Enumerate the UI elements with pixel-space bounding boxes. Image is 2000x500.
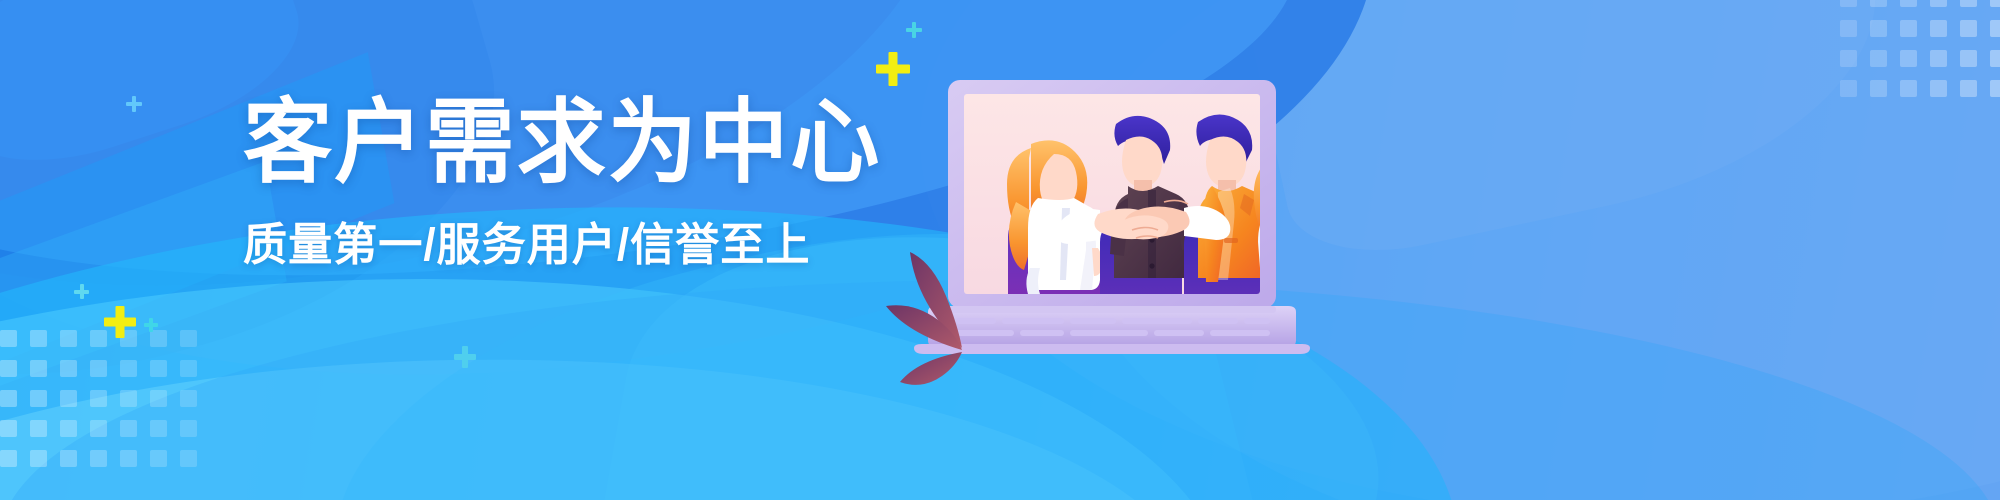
dot-grid-cell (60, 330, 77, 347)
dot-grid-cell (1990, 50, 2000, 67)
dot-grid-cell (1930, 50, 1947, 67)
dot-grid-cell (120, 390, 137, 407)
dot-grid-cell (0, 450, 17, 467)
dot-grid-cell (0, 360, 17, 377)
dot-grid-cell (30, 420, 47, 437)
dot-grid-cell (1990, 0, 2000, 7)
dot-grid-cell (0, 420, 17, 437)
dot-grid-cell (150, 390, 167, 407)
dot-grid-cell (1960, 20, 1977, 37)
dot-grid-cell (1900, 80, 1917, 97)
background-shard-right (1232, 0, 1907, 271)
laptop-teamwork-illustration (912, 62, 1312, 352)
dot-grid-cell (60, 360, 77, 377)
dot-grid-cell (150, 420, 167, 437)
dot-grid-cell (90, 360, 107, 377)
dot-grid-cell (60, 390, 77, 407)
dot-grid-cell (30, 450, 47, 467)
dot-grid-cell (30, 330, 47, 347)
dot-grid-cell (90, 450, 107, 467)
headline-block: 客户需求为中心 质量第一/服务用户/信誉至上 (243, 96, 903, 273)
dot-grid-cell (1840, 80, 1857, 97)
dot-grid-cell (1960, 0, 1977, 7)
dot-grid-cell (1870, 0, 1887, 7)
dot-grid-cell (1990, 20, 2000, 37)
dot-grid-cell (120, 330, 137, 347)
plus-cyan-bottom-left-icon (144, 318, 158, 332)
promo-banner: 客户需求为中心 质量第一/服务用户/信誉至上 (0, 0, 2000, 500)
plus-yellow-large-bottom-icon (104, 306, 136, 338)
plus-yellow-large-top-icon (876, 52, 910, 86)
dot-grid-cell (1840, 0, 1857, 7)
dot-grid-cell (1900, 0, 1917, 7)
dot-grid-cell (120, 360, 137, 377)
dot-grid-cell (90, 420, 107, 437)
dot-grid-cell (1900, 50, 1917, 67)
plus-cyan-upper-left-icon (126, 96, 142, 112)
dot-grid-cell (1870, 50, 1887, 67)
dot-grid-cell (180, 330, 197, 347)
dot-grid-cell (0, 330, 17, 347)
dot-grid-cell (0, 390, 17, 407)
dot-grid-cell (1870, 80, 1887, 97)
dot-grid-cell (1930, 80, 1947, 97)
dot-grid-cell (90, 390, 107, 407)
dot-grid-cell (90, 330, 107, 347)
dot-grid-cell (1990, 80, 2000, 97)
dot-grid-cell (1960, 80, 1977, 97)
dot-grid-cell (120, 450, 137, 467)
dot-grid-cell (120, 420, 137, 437)
dot-grid-cell (180, 360, 197, 377)
dot-grid-cell (180, 390, 197, 407)
dot-grid-cell (1930, 20, 1947, 37)
dot-grid-cell (1840, 50, 1857, 67)
plus-cyan-bottom-mid-icon (74, 284, 89, 299)
plus-cyan-small-top-icon (906, 22, 922, 38)
page-title: 客户需求为中心 (243, 96, 883, 192)
dot-grid-cell (1930, 0, 1947, 7)
plus-cyan-mid-canvas-icon (454, 346, 476, 368)
dot-grid-cell (30, 360, 47, 377)
dot-grid-cell (1840, 20, 1857, 37)
dot-grid-cell (1900, 20, 1917, 37)
background-wave-cyan-low (0, 334, 1209, 500)
dot-grid-cell (180, 450, 197, 467)
page-subtitle: 质量第一/服务用户/信誉至上 (243, 208, 890, 273)
dot-grid-cell (60, 450, 77, 467)
dot-grid-cell (150, 450, 167, 467)
dot-grid-cell (150, 360, 167, 377)
laptop-foot (914, 344, 1310, 354)
dot-grid-cell (180, 420, 197, 437)
dot-grid-cell (60, 420, 77, 437)
dot-grid-cell (1960, 50, 1977, 67)
dot-grid-cell (150, 330, 167, 347)
dot-grid-cell (1870, 20, 1887, 37)
laptop-hinge (948, 306, 1276, 313)
dot-grid-cell (30, 390, 47, 407)
